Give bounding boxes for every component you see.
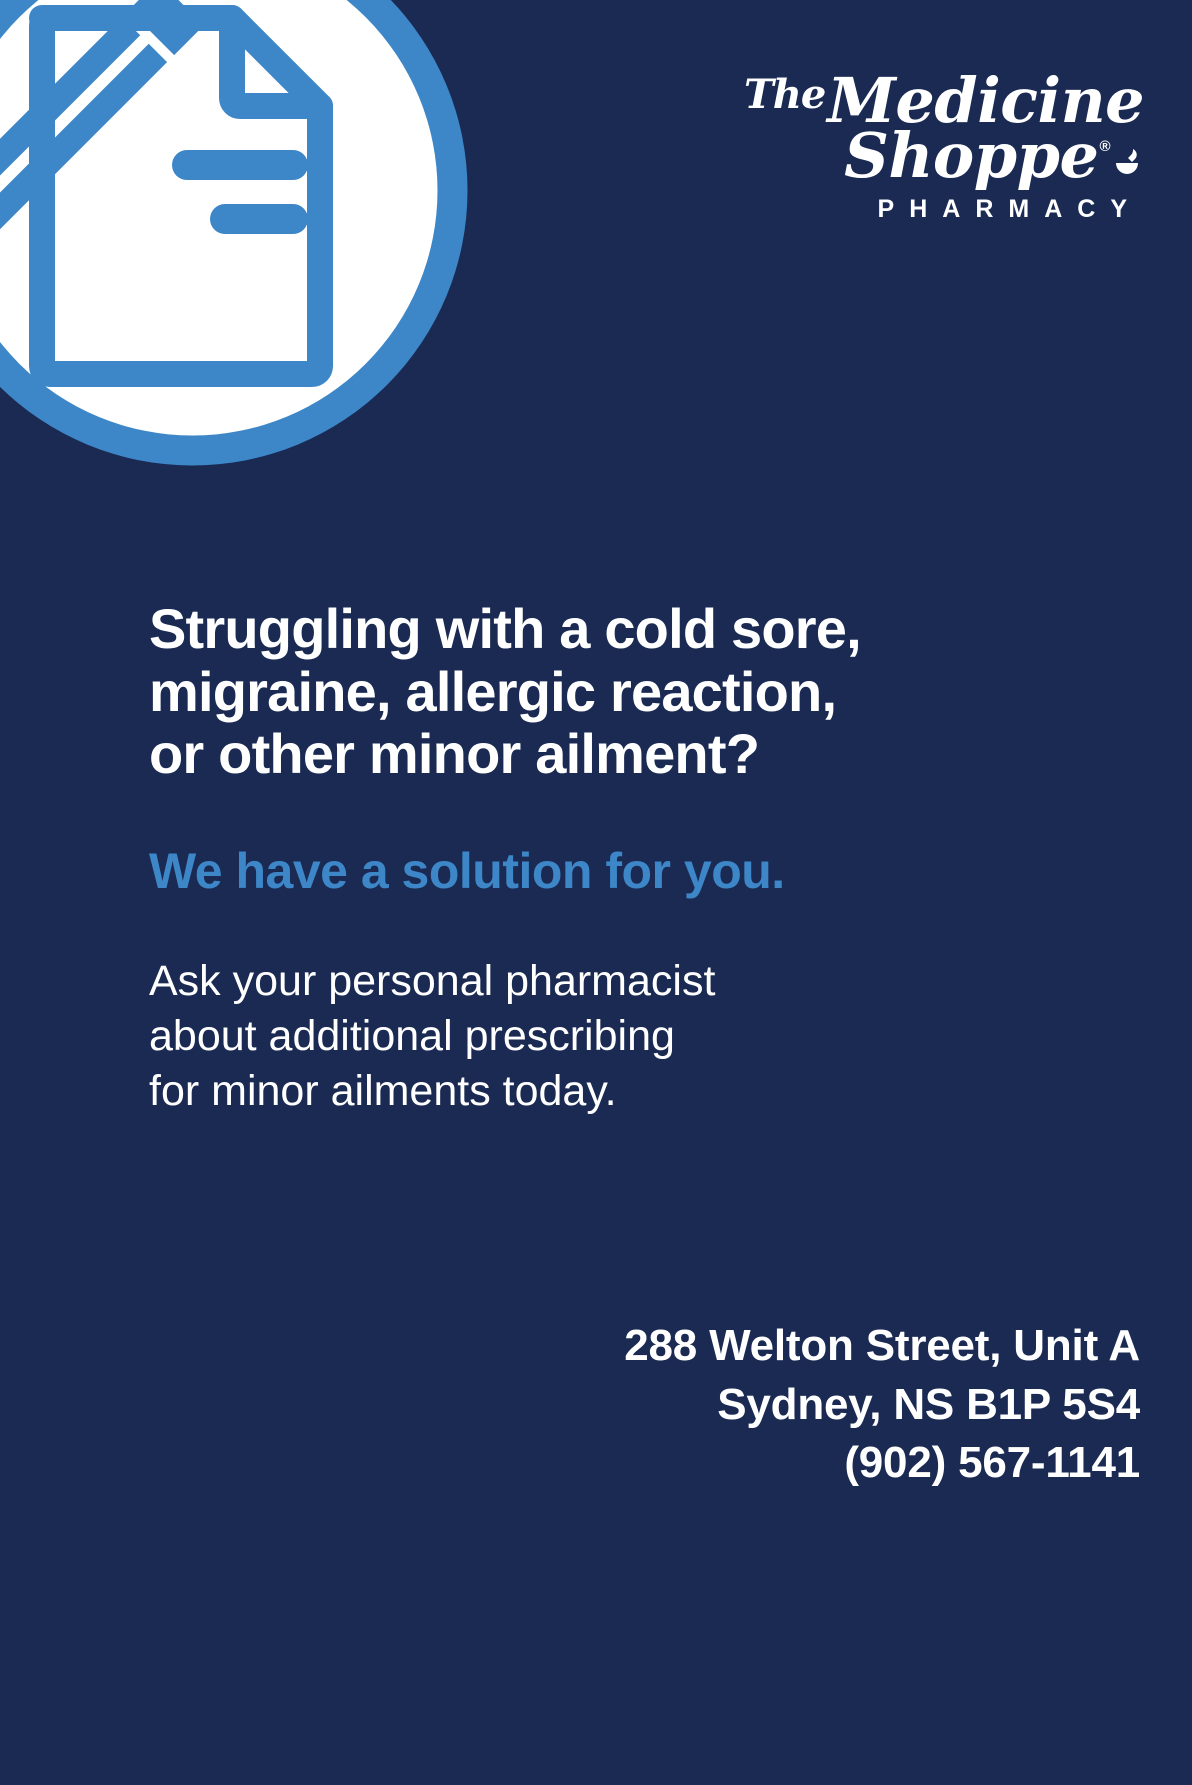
headline-line-3: or other minor ailment? <box>149 723 1049 786</box>
registered-trademark-icon: ® <box>1099 138 1110 155</box>
prescription-badge <box>0 0 475 473</box>
logo-shoppe-text: Shoppe <box>844 119 1098 192</box>
headline: Struggling with a cold sore, migraine, a… <box>149 598 1049 786</box>
tagline: We have a solution for you. <box>149 786 1049 899</box>
prescription-document-pencil-icon <box>0 0 475 473</box>
headline-line-1: Struggling with a cold sore, <box>149 598 1049 661</box>
headline-line-2: migraine, allergic reaction, <box>149 661 1049 724</box>
logo-pharmacy-text: PHARMACY <box>744 195 1144 224</box>
logo-the-text: The <box>744 71 825 118</box>
address-phone[interactable]: (902) 567-1141 <box>624 1434 1140 1493</box>
body-line-3: for minor ailments today. <box>149 1064 1049 1119</box>
mortar-and-pestle-icon <box>1112 147 1142 181</box>
medicine-shoppe-logo: TheMedicine Shoppe® PHARMACY <box>744 74 1144 224</box>
address-street: 288 Welton Street, Unit A <box>624 1317 1140 1376</box>
body-line-1: Ask your personal pharmacist <box>149 954 1049 1009</box>
address-city-postal: Sydney, NS B1P 5S4 <box>624 1376 1140 1435</box>
logo-line-two: Shoppe® <box>744 129 1144 184</box>
body-line-2: about additional prescribing <box>149 1009 1049 1064</box>
body-copy: Ask your personal pharmacist about addit… <box>149 899 1049 1119</box>
poster-content: Struggling with a cold sore, migraine, a… <box>149 598 1049 1119</box>
store-address-block: 288 Welton Street, Unit A Sydney, NS B1P… <box>624 1317 1140 1493</box>
